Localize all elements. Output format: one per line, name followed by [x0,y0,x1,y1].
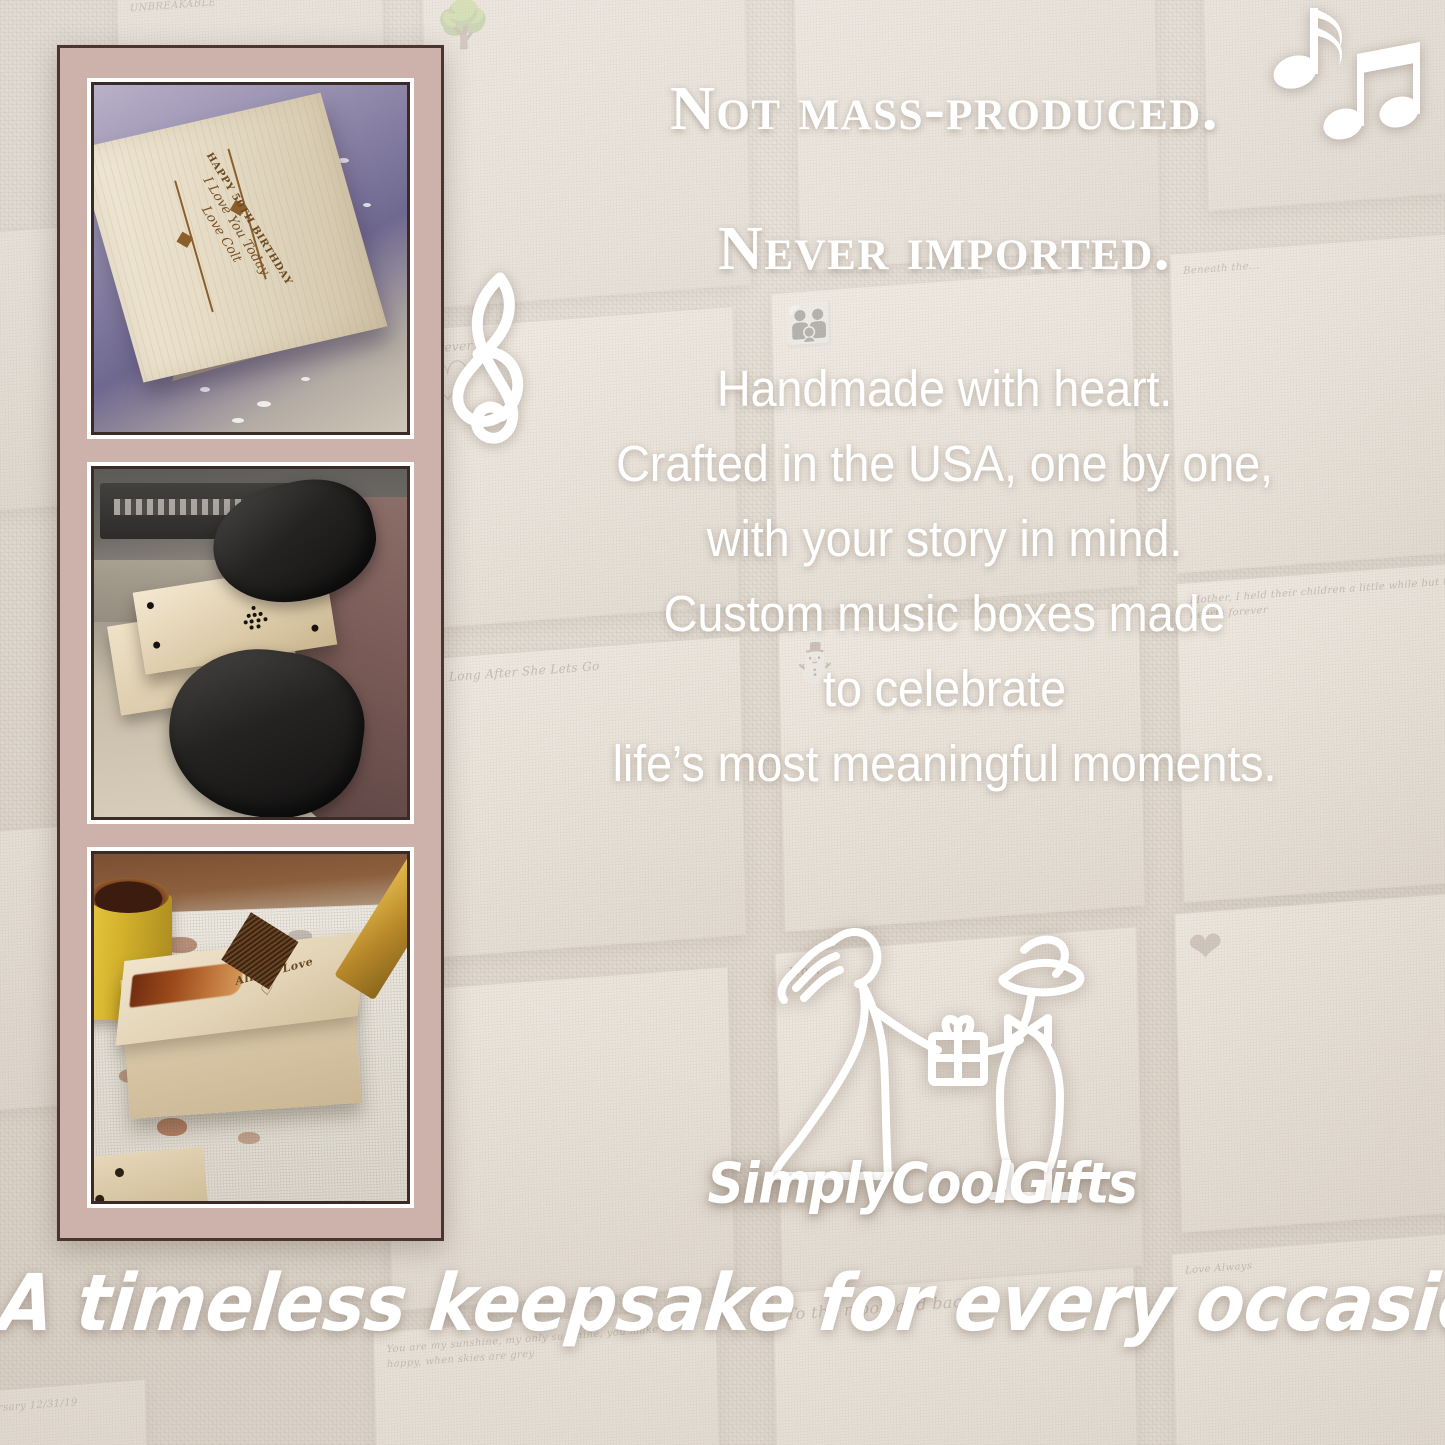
photo-assembling-music-box [87,462,414,823]
body-line: Handmade with heart. [484,352,1405,427]
body-line: life’s most meaningful moments. [484,727,1405,802]
tagline: A timeless keepsake for every occasion. [0,1257,1445,1349]
body-line: to celebrate [484,652,1405,727]
photo2-speaker-holes [241,603,271,633]
body-copy: Handmade with heart. Crafted in the USA,… [484,352,1405,802]
photo-collage-frame: HAPPY 50TH BIRTHDAY I Love You Today Lov… [57,45,444,1241]
brand-logo: SimplyCoolGifts [692,900,1152,1220]
eighth-note-icon [1269,8,1342,94]
photo3-stain-splatter [157,1118,187,1136]
promo-graphic: Meryl & Jackson 4.27.24 I'll be with you… [0,0,1445,1445]
photo3-wet-stain-stroke [129,962,244,1008]
photo3-loose-plank [94,1147,209,1201]
content-column: Not mass-produced. Never imported. [444,0,1445,1445]
body-line: with your story in mind. [484,502,1405,577]
music-notes-decoration [1265,6,1425,156]
photo-engraved-music-box-lid: HAPPY 50TH BIRTHDAY I Love You Today Lov… [87,78,414,439]
body-line: Custom music boxes made [484,577,1405,652]
headline-line-2: Never imported. [444,214,1445,285]
photo-staining-music-box: All My Love ♡ [87,847,414,1208]
photo3-stain-splatter [238,1132,260,1144]
beamed-notes-icon [1319,42,1422,144]
body-line: Crafted in the USA, one by one, [484,427,1405,502]
logo-wordmark: SimplyCoolGifts [699,1152,1145,1217]
